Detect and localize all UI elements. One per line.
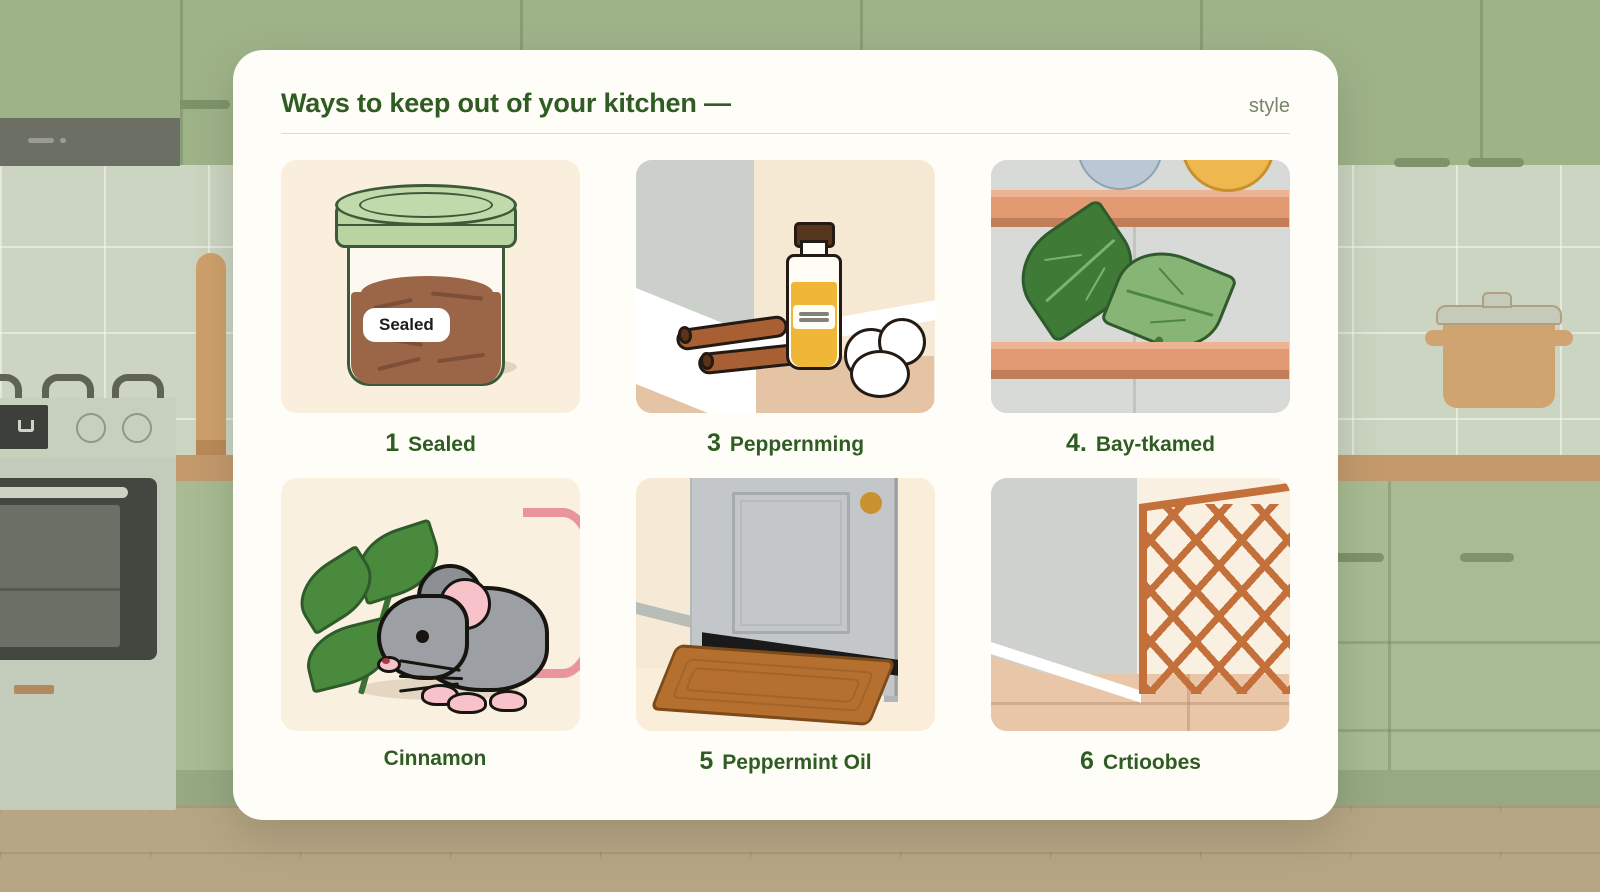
door-knob[interactable] (860, 492, 882, 514)
stove-knob-1[interactable] (76, 413, 106, 443)
style-label: style (1249, 95, 1290, 118)
oven-brand-badge (14, 685, 54, 694)
caption-number-3: 4. (1066, 429, 1087, 458)
mouse-eye (416, 630, 429, 643)
caption-2: 3 Peppernming (707, 429, 864, 458)
mouse-mid-foot (447, 692, 487, 714)
caption-4: Cinnamon (375, 747, 487, 771)
mesh-screen (1139, 504, 1290, 694)
cinnamon-sticks-oil-bottle-cotton-illustration[interactable] (636, 160, 935, 413)
mouse-hind-foot (489, 690, 527, 712)
door-and-mat-illustration[interactable] (636, 478, 935, 731)
sealed-badge: Sealed (363, 308, 450, 342)
grid-item-3[interactable]: 4. Bay-tkamed (991, 160, 1290, 458)
jar-lid-inner-ring (359, 192, 493, 218)
grid-item-1[interactable]: Sealed 1 Sealed (281, 160, 580, 458)
label-text-line-1 (799, 312, 829, 316)
page-title: Ways to keep out of your kitchen — (281, 88, 731, 119)
oven-rack-line (0, 588, 120, 591)
jar-lid-seam (337, 224, 515, 226)
stove-knob-2[interactable] (122, 413, 152, 443)
stove-display-icon (18, 420, 34, 432)
sealed-jar-illustration[interactable]: Sealed (281, 160, 580, 413)
range-hood (0, 118, 180, 166)
pot-lid-knob (1482, 292, 1512, 308)
pantry-shelf-top (991, 194, 1289, 218)
caption-number-6: 6 (1080, 747, 1094, 776)
door-panel-inner (740, 500, 842, 626)
label-text-line-2 (799, 318, 829, 322)
grid-item-6[interactable]: 6 Crtioobes (991, 478, 1290, 776)
oven-window (0, 505, 120, 647)
caption-label-1: Sealed (408, 433, 476, 457)
mouse-nose-tip (382, 658, 390, 664)
caption-number-2: 3 (707, 429, 721, 458)
mouse-and-mint-illustration[interactable] (281, 478, 580, 731)
grid-item-4[interactable]: Cinnamon (281, 478, 580, 776)
pantry-shelf-bottom-lip (991, 342, 1289, 349)
caption-number-1: 1 (385, 429, 399, 458)
info-card: Ways to keep out of your kitchen — style (233, 50, 1338, 820)
caption-label-4: Cinnamon (384, 747, 487, 771)
caption-label-2: Peppernming (730, 433, 864, 457)
caption-label-3: Bay-tkamed (1096, 433, 1215, 457)
range-hood-vent-secondary (60, 138, 66, 143)
caption-number-5: 5 (699, 747, 713, 776)
pot-lid (1436, 305, 1562, 325)
caption-1: 1 Sealed (385, 429, 476, 458)
caption-6: 6 Crtioobes (1080, 747, 1201, 776)
cutting-board (196, 253, 226, 458)
cotton-ball-3 (850, 350, 910, 398)
caption-label-5: Peppermint Oil (722, 751, 871, 775)
range-hood-vent (28, 138, 54, 143)
grid-item-5[interactable]: 5 Peppermint Oil (636, 478, 935, 776)
caption-label-6: Crtioobes (1103, 751, 1201, 775)
pantry-shelf-bottom (991, 346, 1289, 370)
caption-5: 5 Peppermint Oil (699, 747, 871, 776)
pantry-shelf-top-lip (991, 190, 1289, 197)
mesh-screen-corner-illustration[interactable] (991, 478, 1290, 731)
grid-item-2[interactable]: 3 Peppernming (636, 160, 935, 458)
kitchen-scene: Ways to keep out of your kitchen — style (0, 0, 1600, 892)
cooking-pot (1443, 318, 1555, 408)
bottle-label (793, 305, 835, 329)
oven-handle[interactable] (0, 487, 128, 498)
card-header: Ways to keep out of your kitchen — style (281, 88, 1290, 134)
bay-leaves-on-shelf-illustration[interactable] (991, 160, 1290, 413)
caption-3: 4. Bay-tkamed (1066, 429, 1215, 458)
tips-grid: Sealed 1 Sealed (281, 160, 1290, 776)
